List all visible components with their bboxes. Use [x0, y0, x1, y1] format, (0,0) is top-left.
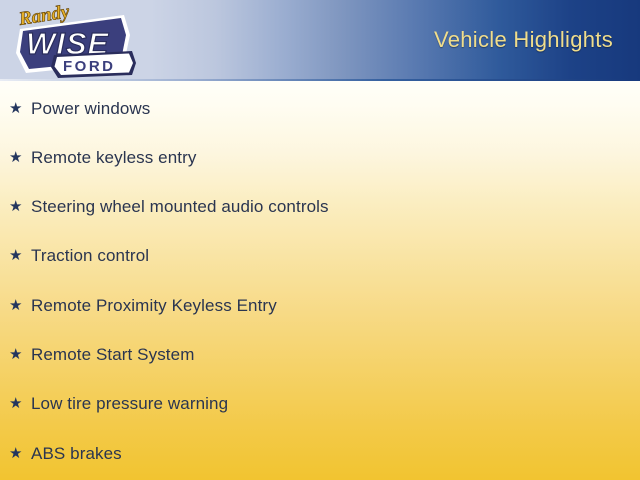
highlight-list-item: ★Remote keyless entry [9, 143, 196, 171]
star-bullet-icon: ★ [9, 150, 31, 165]
highlight-list-item: ★Remote Proximity Keyless Entry [9, 291, 277, 319]
highlight-list-item: ★ABS brakes [9, 439, 122, 467]
highlights-panel: ★Power windows★Remote keyless entry★Stee… [0, 81, 640, 480]
highlight-item-label: Remote Start System [31, 346, 194, 363]
highlight-item-label: Low tire pressure warning [31, 395, 228, 412]
star-bullet-icon: ★ [9, 446, 31, 461]
highlight-list-item: ★Remote Start System [9, 341, 194, 369]
highlight-item-label: Power windows [31, 100, 150, 117]
highlight-item-label: Remote Proximity Keyless Entry [31, 297, 277, 314]
star-bullet-icon: ★ [9, 199, 31, 214]
star-bullet-icon: ★ [9, 248, 31, 263]
header-banner: WISE FORD Randy Vehicle Highlights [0, 0, 640, 79]
star-bullet-icon: ★ [9, 298, 31, 313]
highlight-list-item: ★Traction control [9, 242, 149, 270]
randy-wise-ford-logo: WISE FORD Randy [6, 1, 138, 79]
highlight-list-item: ★Low tire pressure warning [9, 390, 228, 418]
highlight-list-item: ★Power windows [9, 94, 150, 122]
vehicle-highlights-slide: WISE FORD Randy Vehicle Highlights ★Powe… [0, 0, 640, 480]
page-title: Vehicle Highlights [434, 27, 613, 53]
svg-text:FORD: FORD [63, 58, 116, 75]
highlight-item-label: Traction control [31, 247, 149, 264]
star-bullet-icon: ★ [9, 347, 31, 362]
highlight-item-label: Remote keyless entry [31, 149, 196, 166]
star-bullet-icon: ★ [9, 101, 31, 116]
highlight-list-item: ★Steering wheel mounted audio controls [9, 193, 329, 221]
star-bullet-icon: ★ [9, 396, 31, 411]
highlight-item-label: ABS brakes [31, 445, 122, 462]
highlight-item-label: Steering wheel mounted audio controls [31, 198, 329, 215]
